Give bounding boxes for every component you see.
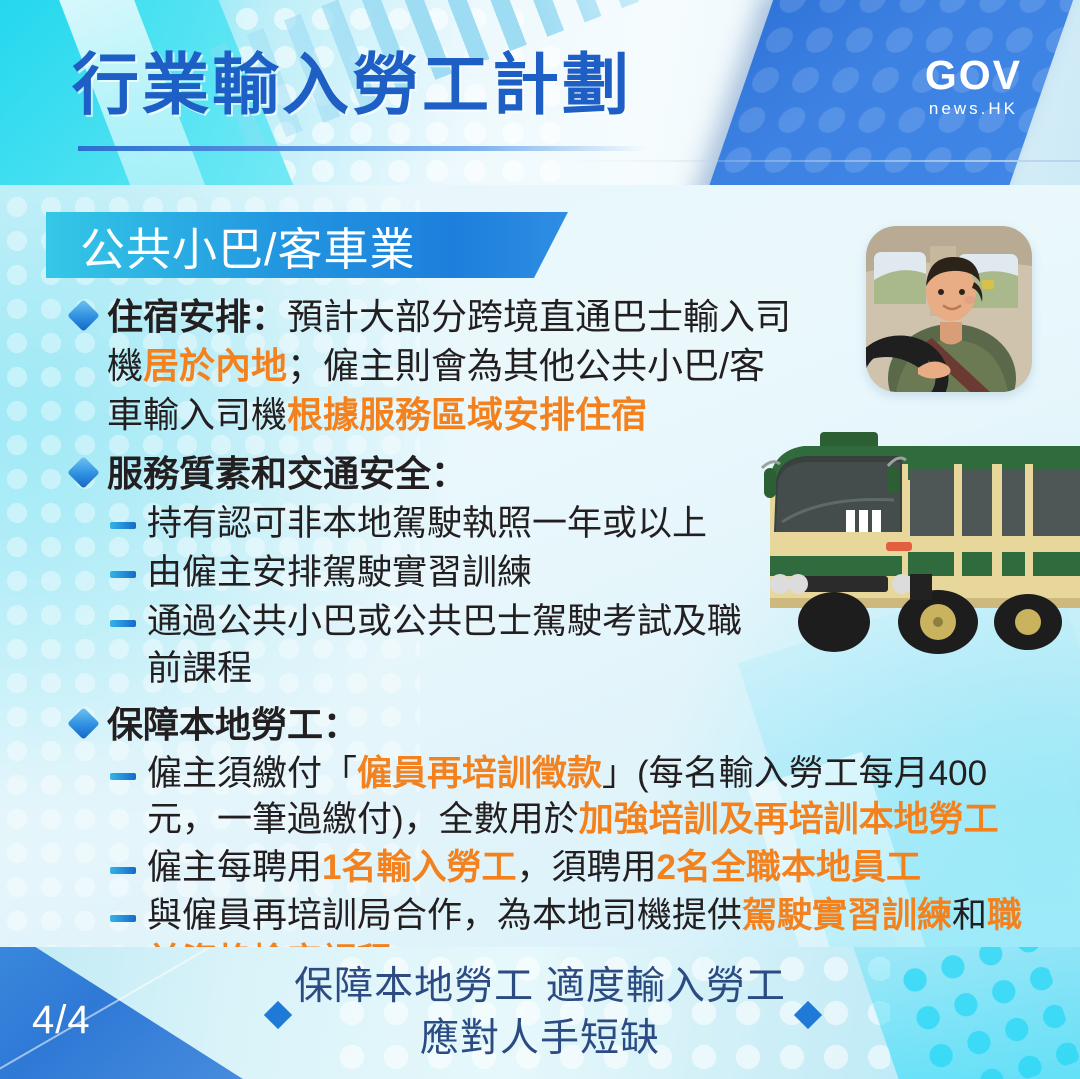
bullet-block-service-quality: 服務質素和交通安全： 持有認可非本地駕駛執照一年或以上 由僱主安排駕駛實習訓練 … <box>0 449 1080 692</box>
sub-list-text: 由僱主安排駕駛實習訓練 <box>147 549 532 596</box>
bullet-heading: 住宿安排： <box>107 296 287 337</box>
logo-sub-text: news.HK <box>925 99 1022 119</box>
diamond-bullet-icon <box>67 299 100 332</box>
bullet-block-protect-local-workers: 保障本地勞工： 僱主須繳付「僱員再培訓徵款」(每名輸入勞工每月400元，一筆過繳… <box>0 700 1080 985</box>
dash-bullet-icon <box>110 915 136 922</box>
header-underline-secondary <box>560 160 1080 162</box>
bullet-heading-row: 住宿安排：預計大部分跨境直通巴士輸入司機居於內地；僱主則會為其他公共小巴/客車輸… <box>0 292 1080 439</box>
highlighted-text: 加強培訓及再培訓本地勞工 <box>579 800 999 839</box>
sub-list-text: 僱主須繳付「僱員再培訓徵款」(每名輸入勞工每月400元，一筆過繳付)，全數用於加… <box>147 751 1047 843</box>
section-title-banner: 公共小巴/客車業 <box>46 212 568 278</box>
sub-list-item: 僱主每聘用1名輸入勞工，須聘用2名全職本地員工 <box>0 845 1080 891</box>
plain-text: 由僱主安排駕駛實習訓練 <box>147 553 532 592</box>
plain-text: 與僱員再培訓局合作，為本地司機提供 <box>147 896 742 935</box>
page-header: 行業輸入勞工計劃 GOV news.HK <box>0 0 1080 185</box>
highlighted-text: 2名全職本地員工 <box>657 848 921 887</box>
bullet-heading-row: 服務質素和交通安全： <box>0 449 1080 498</box>
plain-text: 僱主每聘用 <box>147 848 322 887</box>
sub-list-item: 持有認可非本地駕駛執照一年或以上 <box>0 500 1080 547</box>
footer-slogan: 保障本地勞工 適度輸入勞工 應對人手短缺 <box>0 961 1080 1065</box>
bullet-heading: 服務質素和交通安全： <box>107 449 467 498</box>
footer-slogan-line-1: 保障本地勞工 適度輸入勞工 <box>0 961 1080 1013</box>
plain-text: 和 <box>952 896 987 935</box>
page-title: 行業輸入勞工計劃 <box>72 52 632 119</box>
plain-text: 僱主須繳付「 <box>147 754 357 793</box>
sub-list-item: 僱主須繳付「僱員再培訓徵款」(每名輸入勞工每月400元，一筆過繳付)，全數用於加… <box>0 751 1080 843</box>
bullet-heading: 保障本地勞工： <box>107 700 359 749</box>
sub-list-text: 僱主每聘用1名輸入勞工，須聘用2名全職本地員工 <box>147 845 921 891</box>
header-blue-panel-dots <box>701 0 1080 185</box>
header-underline <box>78 146 648 151</box>
dash-bullet-icon <box>110 571 136 578</box>
dash-bullet-icon <box>110 867 136 874</box>
dash-bullet-icon <box>110 773 136 780</box>
content-body: 住宿安排：預計大部分跨境直通巴士輸入司機居於內地；僱主則會為其他公共小巴/客車輸… <box>0 292 1080 985</box>
sub-list-item: 通過公共小巴或公共巴士駕駛考試及職前課程 <box>0 598 1080 692</box>
highlighted-text: 居於內地 <box>143 345 287 386</box>
bullet-heading-row: 保障本地勞工： <box>0 700 1080 749</box>
plain-text: 持有認可非本地駕駛執照一年或以上 <box>147 504 707 543</box>
sub-list-text: 持有認可非本地駕駛執照一年或以上 <box>147 500 707 547</box>
dash-bullet-icon <box>110 620 136 627</box>
footer-slogan-line-2: 應對人手短缺 <box>0 1013 1080 1065</box>
govnews-logo: GOV news.HK <box>925 55 1022 119</box>
plain-text: 通過公共小巴或公共巴士駕駛考試及職前課程 <box>147 602 742 688</box>
logo-main-text: GOV <box>925 55 1022 96</box>
page-footer: 4/4 保障本地勞工 適度輸入勞工 應對人手短缺 <box>0 947 1080 1079</box>
dash-bullet-icon <box>110 522 136 529</box>
highlighted-text: 1名輸入勞工 <box>322 848 516 887</box>
diamond-bullet-icon <box>67 456 100 489</box>
plain-text: ，須聘用 <box>516 848 656 887</box>
highlighted-text: 駕駛實習訓練 <box>742 896 952 935</box>
bullet-block-accommodation: 住宿安排：預計大部分跨境直通巴士輸入司機居於內地；僱主則會為其他公共小巴/客車輸… <box>0 292 1080 439</box>
diamond-bullet-icon <box>67 707 100 740</box>
highlighted-text: 根據服務區域安排住宿 <box>287 394 647 435</box>
section-title-text: 公共小巴/客車業 <box>80 213 416 278</box>
sub-list-item: 由僱主安排駕駛實習訓練 <box>0 549 1080 596</box>
highlighted-text: 僱員再培訓徵款 <box>357 754 602 793</box>
infographic-poster: 行業輸入勞工計劃 GOV news.HK 公共小巴/客車業 <box>0 0 1080 1079</box>
sub-list-text: 通過公共小巴或公共巴士駕駛考試及職前課程 <box>147 598 767 692</box>
